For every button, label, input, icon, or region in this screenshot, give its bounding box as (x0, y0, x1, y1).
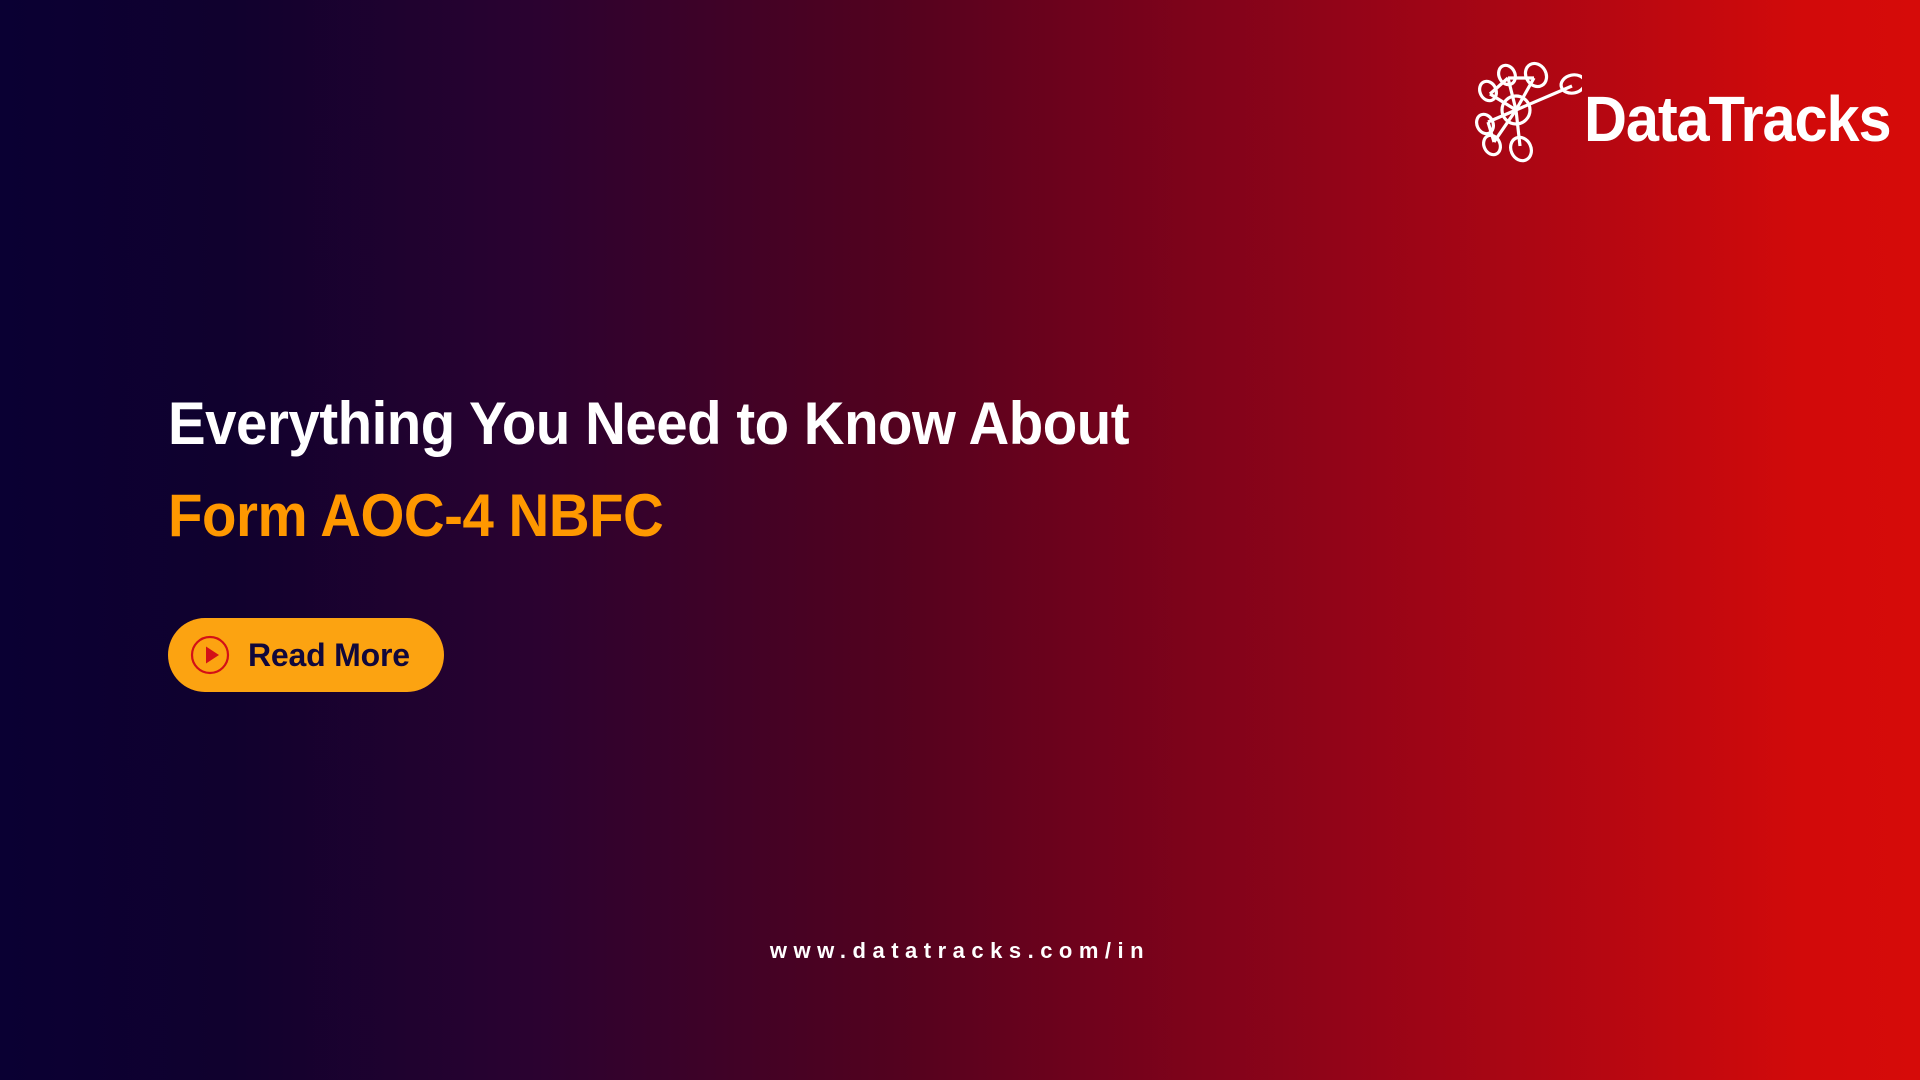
headline: Everything You Need to Know About Form A… (168, 378, 1368, 562)
website-url[interactable]: www.datatracks.com/in (770, 938, 1150, 963)
promo-banner: DataTracks Everything You Need to Know A… (0, 0, 1920, 1080)
headline-line-1: Everything You Need to Know About (168, 378, 1296, 470)
read-more-button[interactable]: Read More (168, 618, 444, 692)
read-more-label: Read More (248, 639, 410, 671)
footer: www.datatracks.com/in (0, 938, 1920, 964)
datatracks-network-mark (1472, 60, 1582, 164)
play-circle-icon (190, 635, 230, 675)
headline-line-2: Form AOC-4 NBFC (168, 470, 1296, 562)
logo-wordmark: DataTracks (1584, 87, 1891, 151)
datatracks-logo[interactable]: DataTracks (1472, 60, 1914, 164)
